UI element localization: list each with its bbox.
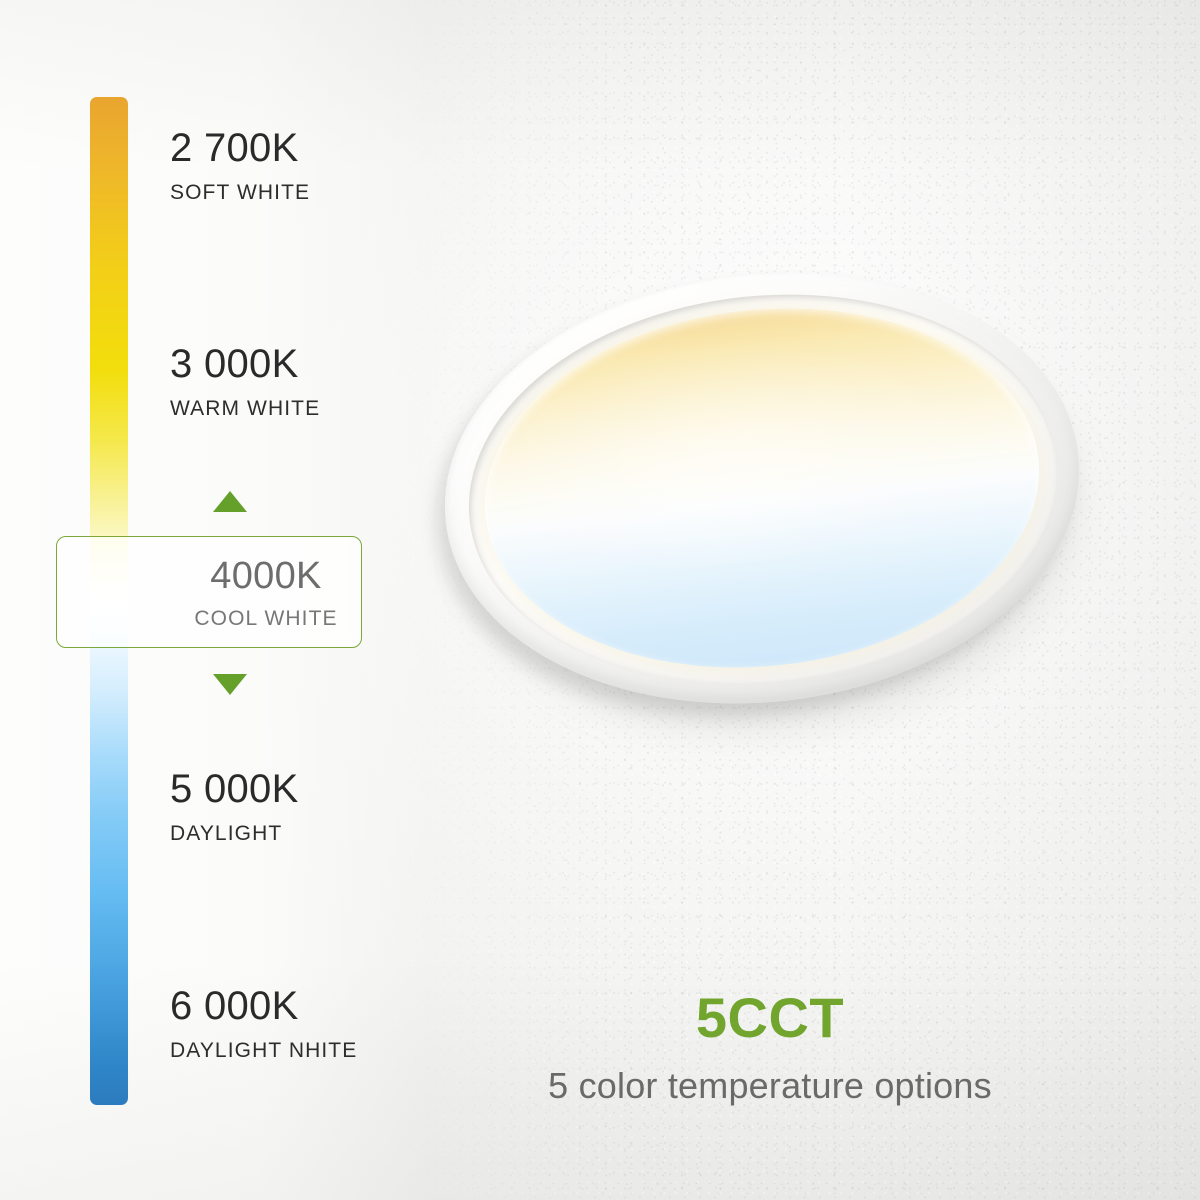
- cct-step-kelvin: 6 000K: [170, 986, 357, 1026]
- cct-count-subtitle: 5 color temperature options: [430, 1068, 1110, 1104]
- selected-step-kelvin: 4000K: [171, 557, 361, 595]
- cct-step-name: DAYLIGHT NHITE: [170, 1040, 357, 1061]
- product-image: [430, 262, 1110, 752]
- cct-step-kelvin: 2 700K: [170, 128, 310, 168]
- cct-step-name: SOFT WHITE: [170, 182, 310, 203]
- cct-step-3000k[interactable]: 3 000K WARM WHITE: [170, 344, 320, 419]
- cct-step-kelvin: 5 000K: [170, 769, 299, 809]
- cct-step-name: DAYLIGHT: [170, 823, 299, 844]
- infographic-canvas: 2 700K SOFT WHITE 3 000K WARM WHITE 5 00…: [0, 0, 1200, 1200]
- cct-count-title: 5CCT: [430, 990, 1110, 1046]
- selector-down-arrow-icon[interactable]: [213, 674, 247, 695]
- cct-step-2700k[interactable]: 2 700K SOFT WHITE: [170, 128, 310, 203]
- selector-up-arrow-icon[interactable]: [213, 491, 247, 512]
- cct-step-5000k[interactable]: 5 000K DAYLIGHT: [170, 769, 299, 844]
- selected-step-name: COOL WHITE: [171, 608, 361, 629]
- cct-step-6000k[interactable]: 6 000K DAYLIGHT NHITE: [170, 986, 357, 1061]
- selected-step-text: 4000K COOL WHITE: [171, 557, 361, 629]
- cct-step-4000k-selected[interactable]: 4000K COOL WHITE: [56, 536, 362, 648]
- cct-step-kelvin: 3 000K: [170, 344, 320, 384]
- cct-step-name: WARM WHITE: [170, 398, 320, 419]
